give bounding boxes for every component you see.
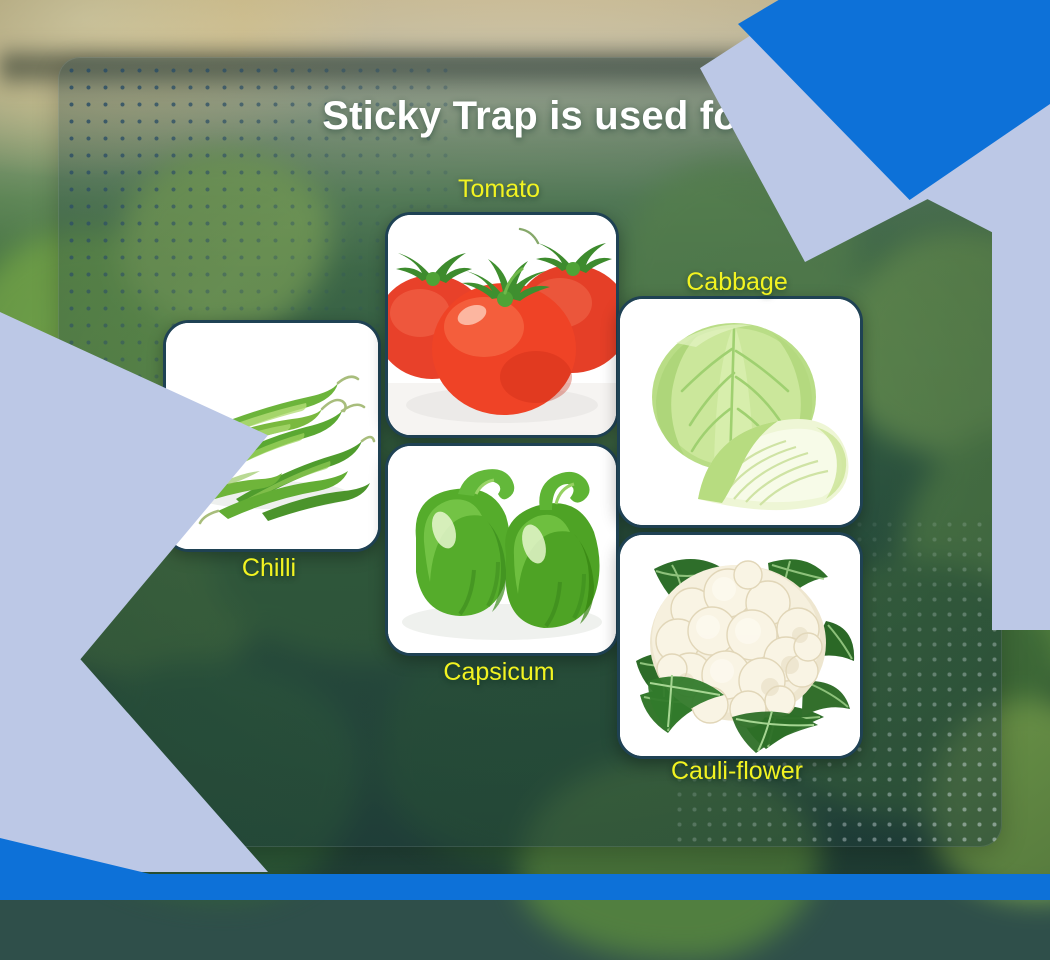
tomato-photo [388, 215, 616, 435]
crop-tile-cabbage[interactable] [617, 296, 863, 528]
crop-label-cabbage: Cabbage [617, 268, 857, 297]
crop-tile-cauliflower[interactable] [617, 532, 863, 759]
crop-label-chilli: Chilli [163, 554, 375, 583]
crop-tile-capsicum[interactable] [385, 443, 619, 656]
cabbage-photo [620, 299, 860, 525]
cauliflower-photo [620, 535, 860, 756]
crop-label-cauliflower: Cauli-flower [617, 757, 857, 786]
capsicum-photo [388, 446, 616, 653]
crop-label-capsicum: Capsicum [385, 658, 613, 687]
crop-tile-tomato[interactable] [385, 212, 619, 438]
crop-label-tomato: Tomato [385, 175, 613, 204]
bottom-blue-bar [0, 874, 1050, 900]
